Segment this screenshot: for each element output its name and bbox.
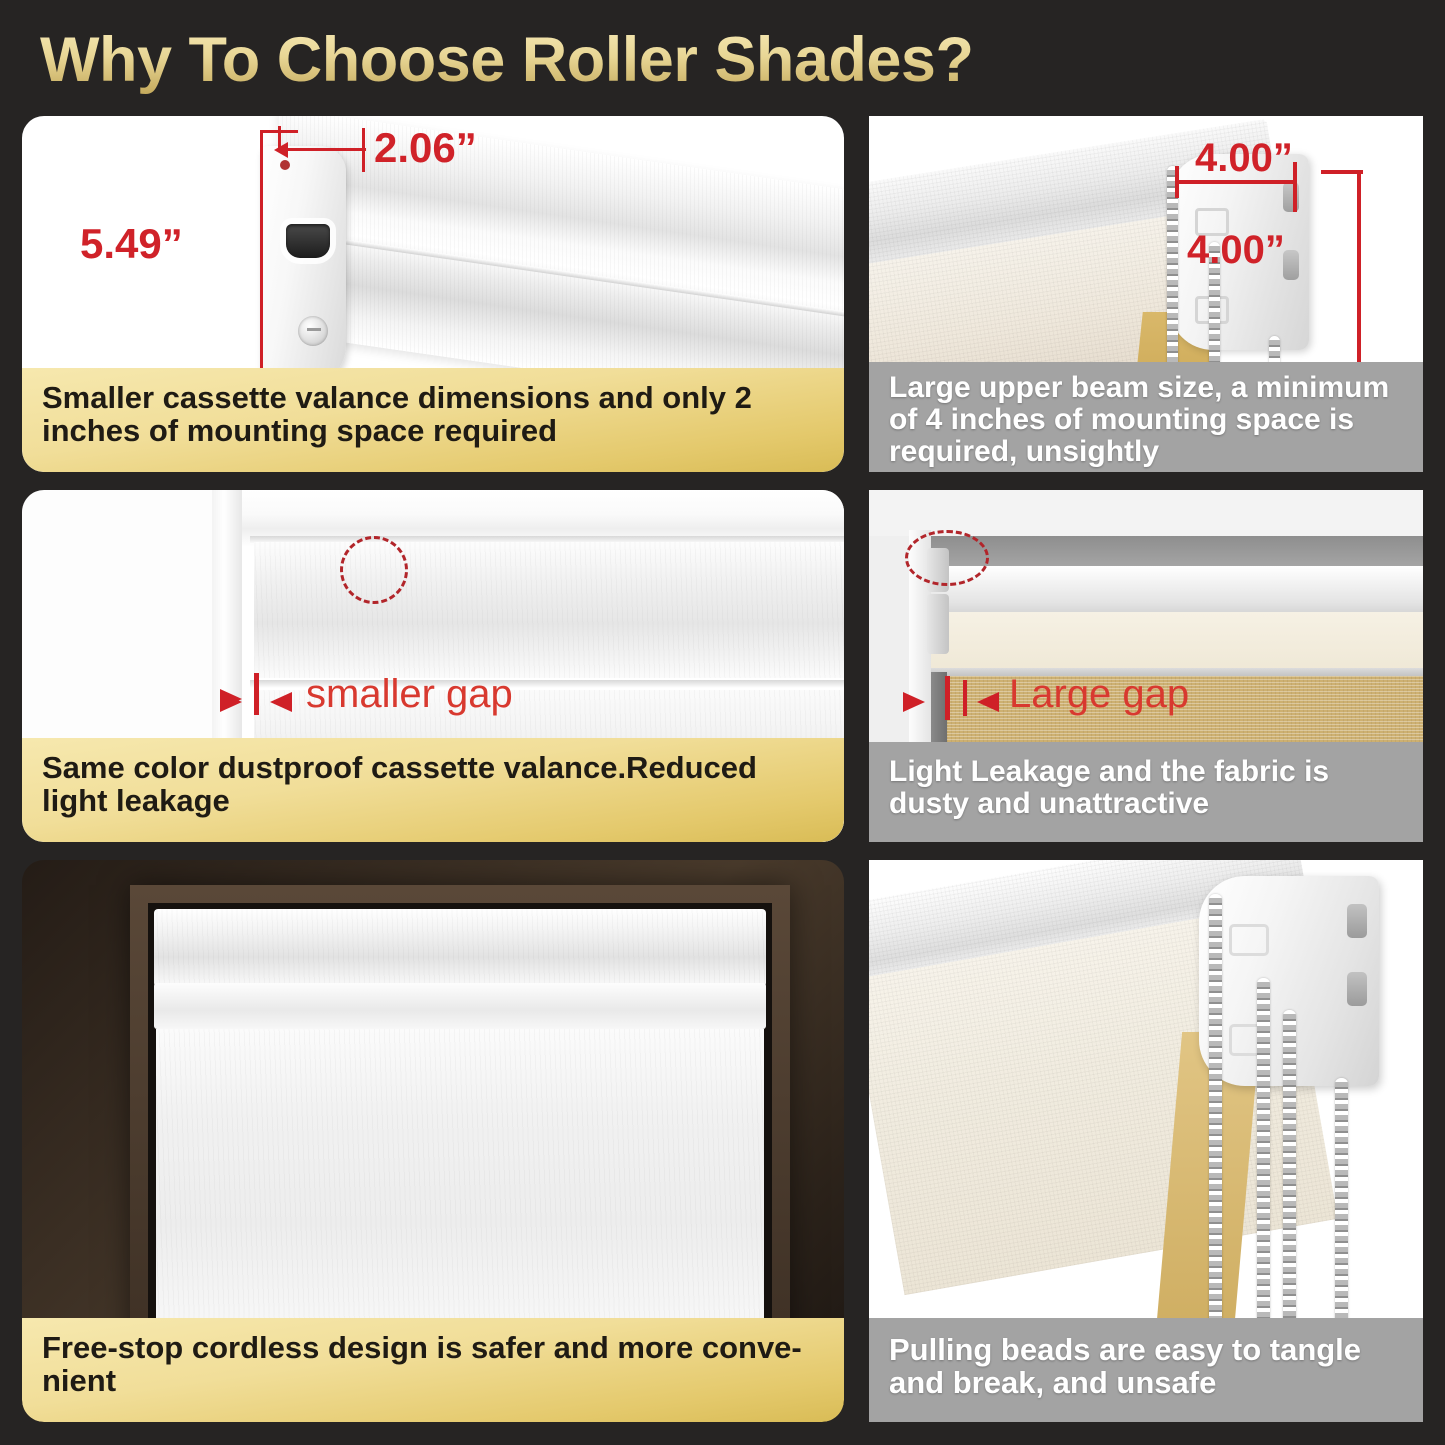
valance-endcap bbox=[260, 146, 346, 386]
endcap-dot bbox=[280, 160, 290, 170]
dim-tick-height-top bbox=[260, 130, 298, 133]
beam-dim-line-height bbox=[1357, 170, 1361, 370]
caption-pro-cassette-dimensions: Smaller cassette valance dimensions and … bbox=[22, 368, 844, 472]
panel-con-large-beam: 4.00” 4.00” Large upper beam size, a min… bbox=[869, 116, 1423, 472]
panel-con-large-gap: Large gap Light Leakage and the fabric i… bbox=[869, 490, 1423, 842]
highlight-circle bbox=[905, 530, 989, 586]
panel-pro-cordless: Free-stop cordless design is safer and m… bbox=[22, 860, 844, 1422]
page-title: Why To Choose Roller Shades? bbox=[40, 24, 1340, 96]
panel-pro-smaller-gap: smaller gap Same color dustproof cassett… bbox=[22, 490, 844, 842]
beam-dim-label-height: 4.00” bbox=[1187, 228, 1285, 273]
beam-dim-label-width: 4.00” bbox=[1195, 136, 1293, 181]
beam-dim-tick-wr bbox=[1293, 162, 1297, 212]
shade-front-lip bbox=[154, 983, 766, 1029]
caption-line-2: and break, and unsafe bbox=[889, 1367, 1405, 1400]
dim-label-height: 5.49” bbox=[80, 220, 183, 268]
endcap-slot bbox=[286, 224, 330, 258]
gap-marker bbox=[254, 673, 259, 715]
roller-tube bbox=[924, 566, 1423, 618]
gap-arrow-right bbox=[270, 692, 292, 712]
bead-chain-2 bbox=[1257, 978, 1270, 1334]
beam-dim-tick-wl bbox=[1175, 166, 1179, 198]
dim-arrow-width-left bbox=[274, 142, 288, 158]
caption-text: Same color dustproof cassette valance.Re… bbox=[42, 752, 826, 818]
gap-arrow-left-2 bbox=[220, 692, 242, 712]
caption-pro-smaller-gap: Same color dustproof cassette valance.Re… bbox=[22, 738, 844, 842]
caption-pro-cordless: Free-stop cordless design is safer and m… bbox=[22, 1318, 844, 1422]
gap-marker-b bbox=[963, 680, 967, 716]
shade-cassette bbox=[154, 909, 766, 987]
gap-arrow-right bbox=[977, 692, 999, 712]
bead-chain-3 bbox=[1283, 1010, 1296, 1334]
gap-arrow-left bbox=[903, 692, 925, 712]
wall-surface bbox=[869, 490, 1423, 536]
dim-line-width bbox=[278, 148, 366, 151]
caption-con-large-beam: Large upper beam size, a minimum of 4 in… bbox=[869, 362, 1423, 472]
caption-text: Large upper beam size, a minimum of 4 in… bbox=[889, 372, 1405, 467]
highlight-circle bbox=[340, 536, 408, 604]
panel-pro-cassette-dimensions: 2.06” 5.49” Smaller cassette valance dim… bbox=[22, 116, 844, 472]
caption-line-1: Pulling beads are easy to tangle bbox=[889, 1334, 1405, 1367]
caption-line-2: nient bbox=[42, 1365, 826, 1398]
caption-con-pull-beads: Pulling beads are easy to tangle and bre… bbox=[869, 1318, 1423, 1422]
infographic-root: Why To Choose Roller Shades? 2.06” 5.4 bbox=[0, 0, 1445, 1445]
endcap-screw bbox=[298, 316, 328, 346]
gap-label-smaller: smaller gap bbox=[306, 672, 513, 717]
caption-text: Light Leakage and the fabric is dusty an… bbox=[889, 756, 1405, 820]
dim-label-width: 2.06” bbox=[374, 124, 477, 172]
gap-label-large: Large gap bbox=[1009, 672, 1189, 717]
caption-text: Smaller cassette valance dimensions and … bbox=[42, 382, 826, 448]
shadow-band bbox=[924, 536, 1423, 570]
caption-con-large-gap: Light Leakage and the fabric is dusty an… bbox=[869, 742, 1423, 842]
panel-con-pull-beads: Pulling beads are easy to tangle and bre… bbox=[869, 860, 1423, 1422]
cream-fabric bbox=[931, 612, 1423, 672]
gap-marker-a bbox=[945, 676, 950, 720]
caption-line-1: Free-stop cordless design is safer and m… bbox=[42, 1332, 826, 1365]
mounting-clip-2 bbox=[927, 594, 949, 654]
beam-dim-tick-ht bbox=[1321, 170, 1363, 174]
bead-chain-1 bbox=[1209, 894, 1222, 1334]
bead-chain-4 bbox=[1335, 1078, 1348, 1334]
